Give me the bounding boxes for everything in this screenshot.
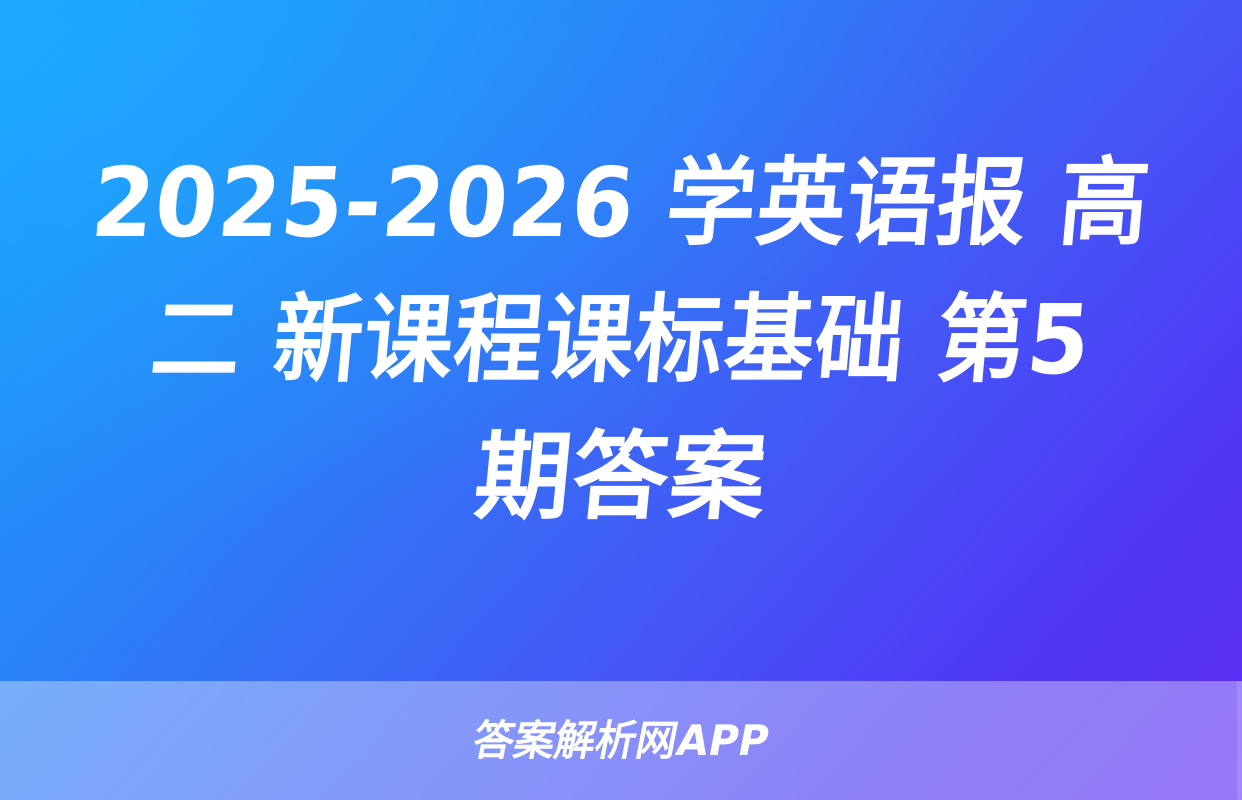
watermark: 答案解析网APP	[0, 681, 1242, 800]
watermark-label: 答案解析网APP	[469, 717, 773, 765]
page-title-line-2: 二 新课程课标基础 第5	[71, 272, 1171, 409]
footer-band: 答案解析网APP	[0, 681, 1242, 800]
poster-canvas: 2025-2026 学英语报 高 二 新课程课标基础 第5 期答案 答案解析网A…	[0, 0, 1242, 800]
page-title-line-3: 期答案	[29, 409, 1212, 546]
title-block: 2025-2026 学英语报 高 二 新课程课标基础 第5 期答案	[0, 0, 1242, 681]
page-title-line-1: 2025-2026 学英语报 高	[71, 135, 1171, 272]
